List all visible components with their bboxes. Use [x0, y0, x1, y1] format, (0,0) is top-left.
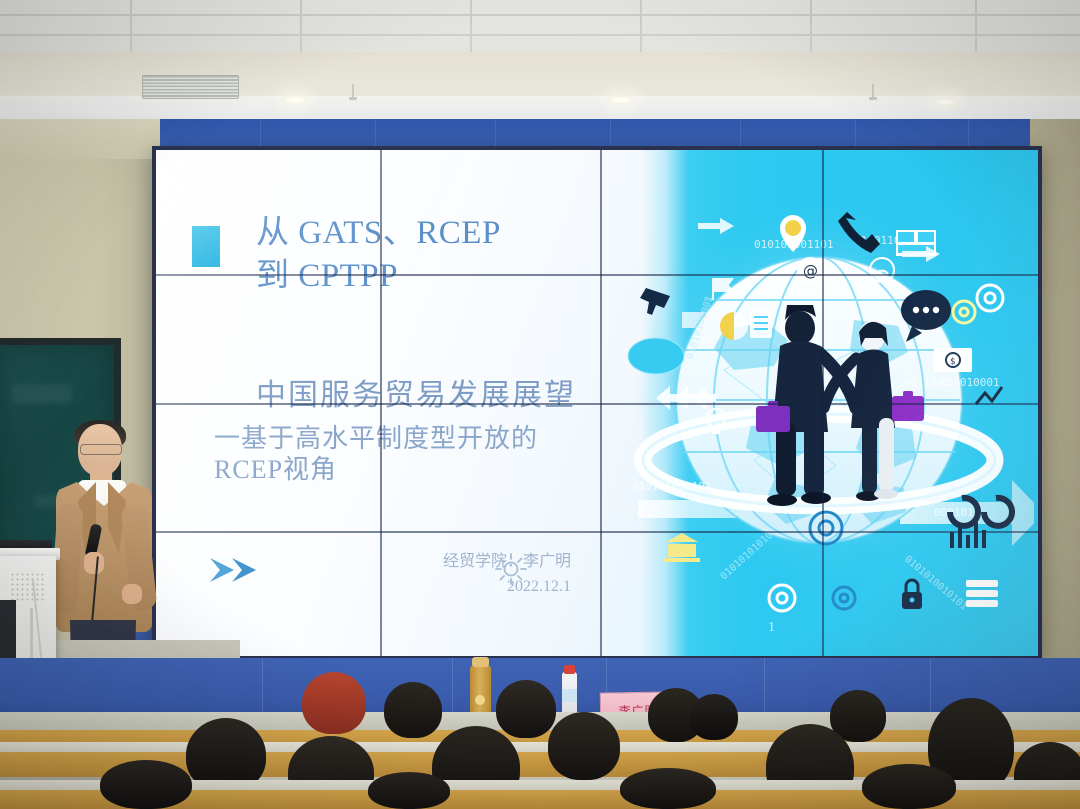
byline-date: 2022.12.1 [341, 575, 571, 600]
svg-text:$: $ [950, 357, 956, 367]
at-sign-icon: @ [797, 257, 823, 283]
audience-head [368, 772, 450, 809]
title-accent-square [192, 226, 220, 267]
audience-head [862, 764, 956, 809]
audience-head [690, 694, 738, 740]
pie-chart-icon [720, 312, 748, 340]
video-wall-screen[interactable]: 010101001101 01001101 010101001101 00110… [156, 150, 1038, 656]
lecture-hall-scene: 010101001101 01001101 010101001101 00110… [0, 0, 1080, 809]
byline-affiliation: 经贸学院：李广明 [341, 550, 571, 575]
cloud-icon [628, 338, 684, 374]
slide-subtitle-line2: 一基于高水平制度型开放的 [214, 423, 674, 455]
gear-icon [977, 285, 1003, 311]
downlight-icon [932, 98, 958, 106]
slide-subtitle-line3: RCEP视角 [214, 454, 674, 486]
slide-title-line1: 从 GATS、RCEP [256, 215, 501, 251]
audience-head [496, 680, 556, 738]
glasses-icon [80, 444, 122, 455]
slide-byline: 经贸学院：李广明 2022.12.1 [341, 550, 571, 600]
slide-subtitle-line1: 中国服务贸易发展展望 [214, 378, 674, 415]
left-wall-upper [0, 119, 160, 159]
audience-head [100, 760, 192, 809]
presenter-hand-right [122, 584, 142, 604]
podium-side-panel [0, 600, 16, 662]
slide-title-line2: 到 CPTPP [256, 258, 398, 294]
water-bottle [562, 672, 577, 716]
podium-leg [30, 608, 33, 664]
audience-head [302, 672, 366, 734]
svg-text:@: @ [803, 262, 818, 280]
speaker-grille-icon [10, 572, 46, 602]
chevron-right-icon [208, 554, 270, 586]
ceiling-hanger-rod [352, 84, 354, 98]
presentation-slide: 010101001101 01001101 010101001101 00110… [156, 150, 1038, 656]
ceiling-tiles [0, 0, 1080, 58]
presenter-hand-left [84, 552, 104, 574]
downlight-icon [282, 96, 308, 104]
video-wall[interactable]: 010101001101 01001101 010101001101 00110… [152, 146, 1042, 660]
audience-head [384, 682, 442, 738]
slide-title: 从 GATS、RCEP 到 CPTPP [256, 212, 676, 298]
svg-text:010010001: 010010001 [940, 376, 1000, 389]
air-vent-icon [142, 75, 239, 99]
audience-head [548, 712, 620, 780]
sun-icon [494, 552, 528, 586]
slide-page-number: 1 [768, 620, 775, 636]
slide-subtitle: 中国服务贸易发展展望 一基于高水平制度型开放的 RCEP视角 [214, 378, 674, 486]
lock-icon [902, 580, 922, 609]
server-icon [966, 580, 998, 607]
ceiling-hanger-rod [872, 84, 874, 98]
downlight-icon [608, 96, 634, 104]
document-icon [750, 310, 772, 338]
money-bill-icon: $ [934, 348, 972, 372]
audience-head [620, 768, 716, 809]
